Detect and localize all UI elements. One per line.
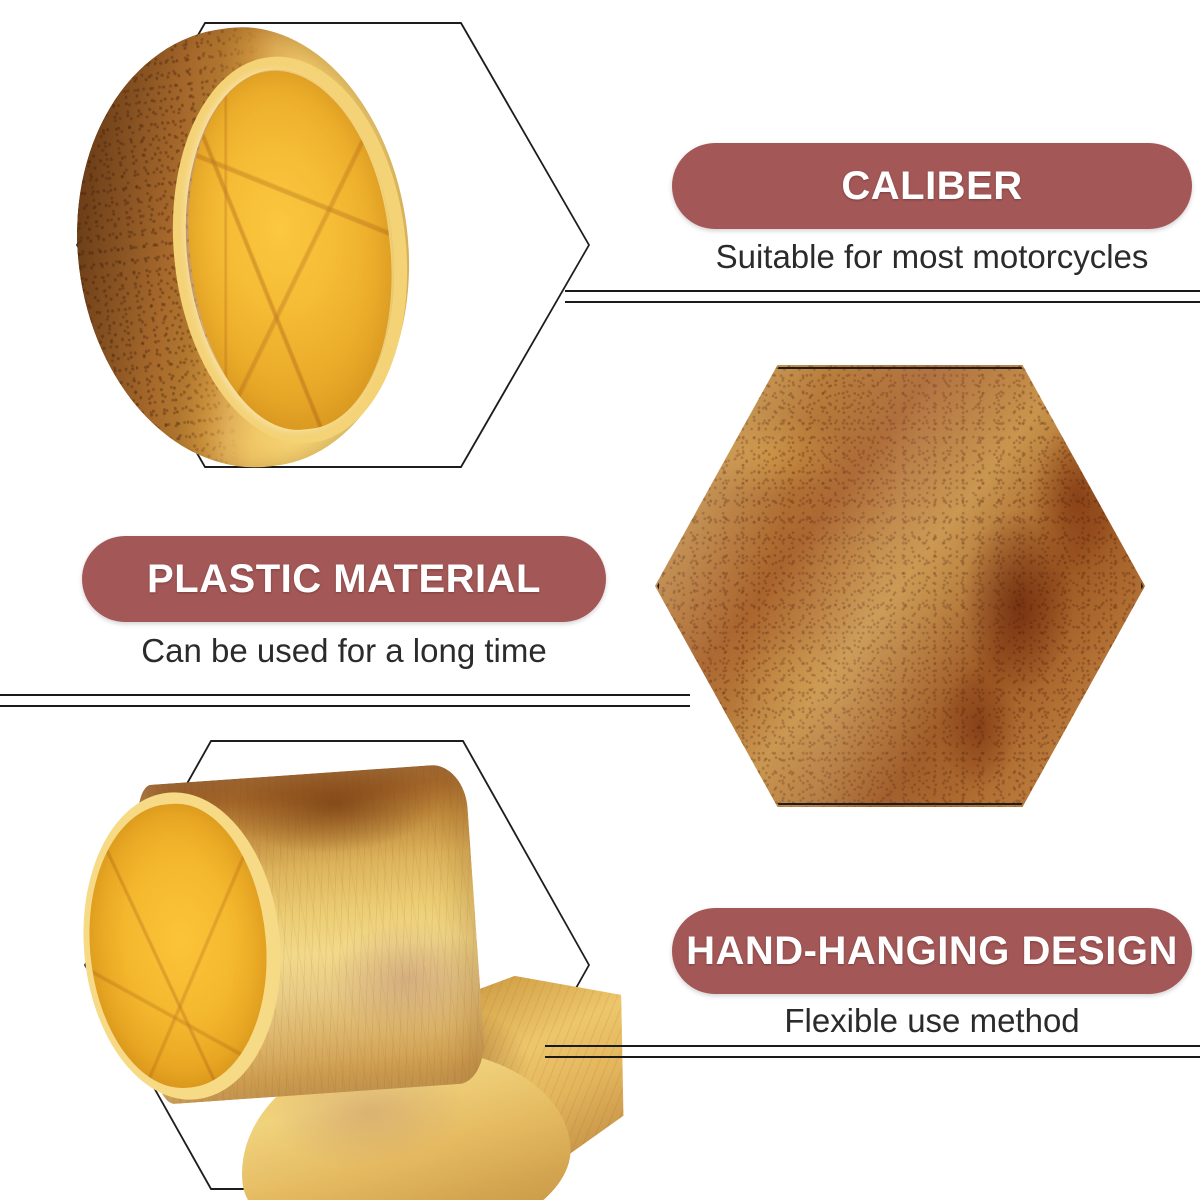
hexagon-frame-inner-hand-hanging bbox=[86, 742, 588, 1188]
hexagon-frame-caliber bbox=[76, 22, 590, 468]
feature-subtitle-hand-hanging: Flexible use method bbox=[672, 1002, 1192, 1040]
connector-hairline-top bbox=[565, 290, 1200, 292]
connector-hairline-bottom bbox=[0, 705, 690, 707]
hexagon-frame-inner bbox=[78, 24, 588, 466]
connector-line-caliber bbox=[565, 290, 1200, 303]
connector-line-plastic-material bbox=[0, 694, 690, 707]
connector-line-hand-hanging bbox=[545, 1045, 1200, 1058]
hexagon-frame-plastic-material bbox=[655, 365, 1145, 807]
feature-pill-label: HAND-HANGING DESIGN bbox=[686, 929, 1178, 974]
connector-hairline-bottom bbox=[565, 301, 1200, 303]
feature-subtitle-caliber: Suitable for most motorcycles bbox=[672, 238, 1192, 276]
connector-hairline-bottom bbox=[545, 1056, 1200, 1058]
hexagon-frame-inner-plastic bbox=[657, 367, 1143, 805]
infographic-canvas: CALIBER Suitable for most motorcycles PL… bbox=[0, 0, 1200, 1200]
feature-pill-label: PLASTIC MATERIAL bbox=[147, 557, 541, 602]
feature-subtitle-plastic-material: Can be used for a long time bbox=[82, 632, 606, 670]
feature-pill-label: CALIBER bbox=[841, 164, 1022, 209]
feature-pill-caliber[interactable]: CALIBER bbox=[672, 143, 1192, 229]
connector-hairline-top bbox=[0, 694, 690, 696]
feature-pill-hand-hanging[interactable]: HAND-HANGING DESIGN bbox=[672, 908, 1192, 994]
hexagon-frame-hand-hanging bbox=[84, 740, 590, 1190]
feature-pill-plastic-material[interactable]: PLASTIC MATERIAL bbox=[82, 536, 606, 622]
connector-hairline-top bbox=[545, 1045, 1200, 1047]
